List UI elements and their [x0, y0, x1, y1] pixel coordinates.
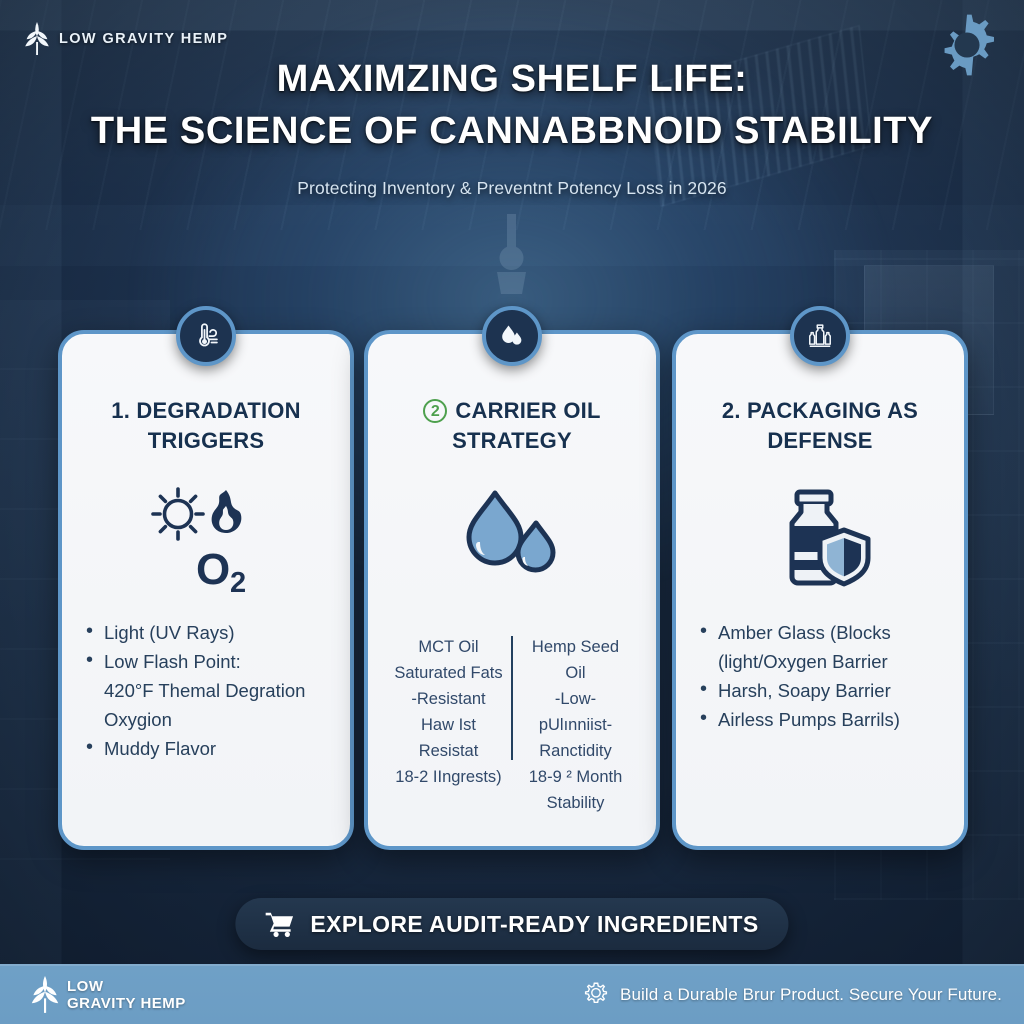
list-item: Harsh, Soapy Barrier [698, 677, 948, 704]
comparison-column-right: Hemp Seed Oil -Low-pUlınniist- Ranctidit… [513, 634, 638, 816]
footer-logo-line-2: GRAVITY HEMP [67, 995, 186, 1012]
list-item: Amber Glass (Blocks [698, 619, 948, 646]
cta-label: EXPLORE AUDIT-READY INGREDIENTS [310, 911, 758, 938]
footer-tagline: Build a Durable Brur Product. Secure You… [620, 985, 1002, 1005]
card-title: 1. DEGRADATION TRIGGERS [76, 396, 336, 456]
card-degradation-triggers[interactable]: 1. DEGRADATION TRIGGERS O [58, 330, 354, 850]
gear-outline-icon [582, 981, 610, 1009]
card-title: 2. PACKAGING AS DEFENSE [690, 396, 950, 456]
card-number-prefix: 2. [722, 398, 747, 423]
card-title-text: PACKAGING AS DEFENSE [747, 398, 918, 453]
footer-logo-line-1: LOW [67, 978, 186, 995]
card-title: 2CARRIER OIL STRATEGY [382, 396, 642, 456]
card-bullet-list: Light (UV Rays) Low Flash Point: 420°F T… [84, 619, 334, 764]
comparison-line: 18-2 IIngrests) [394, 764, 503, 790]
svg-text:O: O [196, 545, 230, 594]
list-item: (light/Oxygen Barrier [698, 648, 948, 675]
card-title-text: DEGRADATION TRIGGERS [136, 398, 300, 453]
page-subtitle: Protecting Inventory & Preventnt Potency… [0, 178, 1024, 199]
water-drops-icon [482, 306, 542, 366]
sun-flame-o2-icon: O 2 [62, 484, 350, 594]
comparison-column-left: MCT Oil Saturated Fats -Resistant Haw Is… [386, 634, 511, 790]
cards-row: 1. DEGRADATION TRIGGERS O [0, 330, 1024, 850]
title-line-1: MAXIMZING SHELF LIFE: [0, 56, 1024, 102]
footer: LOW GRAVITY HEMP Build a Durable Brur Pr… [0, 964, 1024, 1024]
svg-text:2: 2 [230, 567, 246, 594]
oil-droplets-icon [368, 484, 656, 594]
comparison-line: 18-9 ² Month [521, 764, 630, 790]
list-item: Low Flash Point: [84, 648, 334, 675]
cannabis-leaf-icon [30, 976, 60, 1014]
card-carrier-oil-strategy[interactable]: 2CARRIER OIL STRATEGY MCT Oil Saturated … [364, 330, 660, 850]
bottle-shield-icon [676, 484, 964, 594]
list-item: Muddy Flavor [84, 735, 334, 762]
list-item: Oxygion [84, 706, 334, 733]
comparison-line: -Resistant [394, 686, 503, 712]
brand-logo-text: LOW GRAVITY HEMP [59, 31, 228, 47]
list-item: Airless Pumps Barrils) [698, 706, 948, 733]
shopping-cart-icon [265, 911, 295, 937]
comparison-line: Ranctidity [521, 738, 630, 764]
comparison-line: Hemp Seed Oil [521, 634, 630, 686]
card-packaging-as-defense[interactable]: 2. PACKAGING AS DEFENSE Amber Glass (Blo… [672, 330, 968, 850]
comparison-line: MCT Oil [394, 634, 503, 660]
card-bullet-list: Amber Glass (Blocks (light/Oxygen Barrie… [698, 619, 948, 735]
footer-tagline-group: Build a Durable Brur Product. Secure You… [582, 981, 1002, 1009]
comparison-line: Stability [521, 790, 630, 816]
carrier-oil-comparison: MCT Oil Saturated Fats -Resistant Haw Is… [386, 634, 638, 816]
brand-logo-top[interactable]: LOW GRAVITY HEMP [24, 22, 228, 56]
comparison-line: Haw Ist Resistat [394, 712, 503, 764]
page-title: MAXIMZING SHELF LIFE: THE SCIENCE OF CAN… [0, 56, 1024, 199]
card-number-circle: 2 [423, 399, 447, 423]
comparison-line: -Low-pUlınniist- [521, 686, 630, 738]
list-item: 420°F Themal Degration [84, 677, 334, 704]
card-number-prefix: 1. [111, 398, 136, 423]
cannabis-leaf-icon [24, 22, 50, 56]
comparison-line: Saturated Fats [394, 660, 503, 686]
card-title-text: CARRIER OIL STRATEGY [452, 398, 600, 453]
footer-brand-logo[interactable]: LOW GRAVITY HEMP [30, 976, 186, 1014]
title-line-2: THE SCIENCE OF CANNABBNOID STABILITY [0, 106, 1024, 156]
bottles-icon [790, 306, 850, 366]
header: LOW GRAVITY HEMP MAXIMZING SHELF LIFE: T… [0, 0, 1024, 230]
explore-ingredients-button[interactable]: EXPLORE AUDIT-READY INGREDIENTS [235, 898, 788, 950]
thermometer-wind-icon [176, 306, 236, 366]
list-item: Light (UV Rays) [84, 619, 334, 646]
